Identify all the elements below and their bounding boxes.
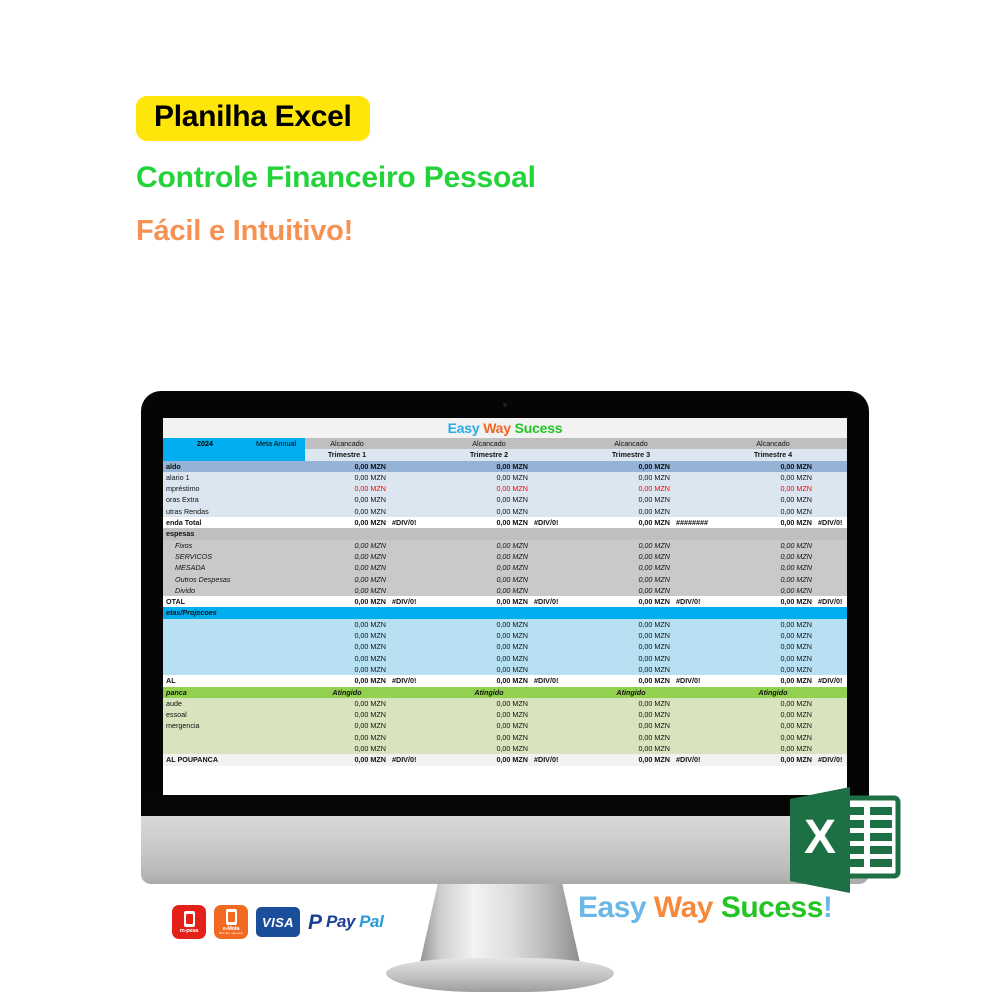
emola-icon: e-Mola Mais fácil, mais perto bbox=[214, 905, 248, 939]
cell-value-q3: 0,00 MZN bbox=[589, 494, 673, 505]
cell-value-q2: 0,00 MZN bbox=[447, 596, 531, 607]
mpesa-icon: m-pesa bbox=[172, 905, 206, 939]
cell-pct-q4 bbox=[815, 506, 847, 517]
cell-pct-q2 bbox=[531, 641, 589, 652]
mpesa-phone-glyph bbox=[184, 911, 195, 927]
sheet-row: aldo0,00 MZN0,00 MZN0,00 MZN0,00 MZN0,00 bbox=[163, 461, 847, 472]
cell-pct-q4: #DIV/0! bbox=[815, 596, 847, 607]
cell-value-q3: Atingido bbox=[589, 687, 673, 698]
cell-pct-q4 bbox=[815, 528, 847, 539]
cell-value-q4: 0,00 MZN bbox=[731, 709, 815, 720]
headline-tagline: Fácil e Intuitivo! bbox=[136, 217, 736, 246]
cell-value-q1: 0,00 MZN bbox=[305, 675, 389, 686]
cell-pct-q3 bbox=[673, 562, 731, 573]
cell-pct-q1 bbox=[389, 641, 447, 652]
row-label: Outros Despesas bbox=[163, 574, 247, 585]
cell-value-q4: 0,00 MZN bbox=[731, 585, 815, 596]
cell-value-q3: 0,00 MZN bbox=[589, 664, 673, 675]
cell-pct-q3 bbox=[673, 483, 731, 494]
row-meta bbox=[247, 653, 305, 664]
excel-spreadsheet: Easy Way Sucess 2024Meta AnnualAlcancado… bbox=[163, 418, 847, 766]
cell-pct-q3 bbox=[673, 585, 731, 596]
row-label: Fixos bbox=[163, 540, 247, 551]
sheet-row: SERVICOS0,00 MZN0,00 MZN0,00 MZN0,00 MZN… bbox=[163, 551, 847, 562]
cell-value-q2: 0,00 MZN bbox=[447, 562, 531, 573]
cell-pct-q4 bbox=[815, 641, 847, 652]
headline-block: Planilha Excel Controle Financeiro Pesso… bbox=[136, 96, 736, 246]
header-achieved-q1: Alcancado bbox=[305, 438, 389, 449]
cell-value-q2: 0,00 MZN bbox=[447, 494, 531, 505]
cell-pct-q4 bbox=[815, 709, 847, 720]
row-label: espesas bbox=[163, 528, 247, 539]
cell-value-q2: 0,00 MZN bbox=[447, 675, 531, 686]
cell-pct-q3 bbox=[673, 698, 731, 709]
header-meta-annual: Meta Annual bbox=[247, 438, 305, 449]
row-meta bbox=[247, 687, 305, 698]
cell-pct-q4 bbox=[815, 574, 847, 585]
excel-logo-icon: X bbox=[784, 785, 902, 895]
row-meta bbox=[247, 517, 305, 528]
cell-pct-q4 bbox=[815, 585, 847, 596]
monitor-screen: Easy Way Sucess 2024Meta AnnualAlcancado… bbox=[163, 418, 847, 795]
row-meta bbox=[247, 472, 305, 483]
headline-subtitle: Controle Financeiro Pessoal bbox=[136, 163, 736, 193]
cell-value-q2: Atingido bbox=[447, 687, 531, 698]
cell-pct-q1 bbox=[389, 630, 447, 641]
cell-value-q4: 0,00 MZN bbox=[731, 483, 815, 494]
cell-pct-q4 bbox=[815, 698, 847, 709]
cell-value-q2: 0,00 MZN bbox=[447, 698, 531, 709]
row-meta bbox=[247, 596, 305, 607]
cell-pct-q2 bbox=[531, 562, 589, 573]
cell-value-q4: 0,00 MZN bbox=[731, 664, 815, 675]
cell-value-q3: 0,00 MZN bbox=[589, 483, 673, 494]
header-quarter-pct-3 bbox=[673, 449, 731, 460]
cell-value-q1: 0,00 MZN bbox=[305, 754, 389, 765]
cell-value-q1: 0,00 MZN bbox=[305, 540, 389, 551]
cell-value-q3: 0,00 MZN bbox=[589, 551, 673, 562]
cell-value-q3: 0,00 MZN bbox=[589, 743, 673, 754]
sheet-row: 0,00 MZN0,00 MZN0,00 MZN0,00 MZN0,00 bbox=[163, 653, 847, 664]
brand-easy: Easy bbox=[578, 891, 646, 924]
cell-pct-q2 bbox=[531, 653, 589, 664]
cell-pct-q4 bbox=[815, 494, 847, 505]
row-label bbox=[163, 641, 247, 652]
row-meta bbox=[247, 585, 305, 596]
cell-pct-q3 bbox=[673, 720, 731, 731]
cell-value-q3 bbox=[589, 607, 673, 618]
brand-way: Way bbox=[654, 891, 713, 924]
sheet-row: AL0,00 MZN#DIV/0!0,00 MZN#DIV/0!0,00 MZN… bbox=[163, 675, 847, 686]
cell-value-q2: 0,00 MZN bbox=[447, 483, 531, 494]
cell-pct-q1 bbox=[389, 732, 447, 743]
cell-value-q1: 0,00 MZN bbox=[305, 574, 389, 585]
row-meta bbox=[247, 483, 305, 494]
paypal-pay: Pay bbox=[326, 912, 355, 932]
row-meta bbox=[247, 619, 305, 630]
row-label: MESADA bbox=[163, 562, 247, 573]
sheet-row: utras Rendas0,00 MZN0,00 MZN0,00 MZN0,00… bbox=[163, 506, 847, 517]
row-label: aude bbox=[163, 698, 247, 709]
cell-pct-q2 bbox=[531, 698, 589, 709]
header-corner bbox=[163, 449, 247, 460]
cell-pct-q4 bbox=[815, 687, 847, 698]
cell-value-q1: 0,00 MZN bbox=[305, 653, 389, 664]
cell-value-q4: 0,00 MZN bbox=[731, 641, 815, 652]
webcam-icon bbox=[503, 403, 507, 407]
cell-pct-q3: #DIV/0! bbox=[673, 675, 731, 686]
cell-pct-q3 bbox=[673, 551, 731, 562]
cell-value-q4: 0,00 MZN bbox=[731, 494, 815, 505]
cell-value-q2: 0,00 MZN bbox=[447, 754, 531, 765]
sheet-row: aude0,00 MZN0,00 MZN0,00 MZN0,00 MZN0,00 bbox=[163, 698, 847, 709]
cell-pct-q4 bbox=[815, 483, 847, 494]
cell-value-q3 bbox=[589, 528, 673, 539]
cell-pct-q2 bbox=[531, 720, 589, 731]
cell-value-q2: 0,00 MZN bbox=[447, 540, 531, 551]
cell-value-q1: 0,00 MZN bbox=[305, 585, 389, 596]
sheet-row: 0,00 MZN0,00 MZN0,00 MZN0,00 MZN0,00 bbox=[163, 664, 847, 675]
cell-value-q3: 0,00 MZN bbox=[589, 630, 673, 641]
cell-value-q1: 0,00 MZN bbox=[305, 517, 389, 528]
sheet-header-quarters: Trimestre 1Trimestre 2Trimestre 3Trimest… bbox=[163, 449, 847, 460]
cell-pct-q2 bbox=[531, 687, 589, 698]
cell-pct-q4: #DIV/0! bbox=[815, 675, 847, 686]
cell-pct-q1: #DIV/0! bbox=[389, 596, 447, 607]
cell-value-q2: 0,00 MZN bbox=[447, 743, 531, 754]
mpesa-label: m-pesa bbox=[180, 928, 198, 934]
cell-pct-q2 bbox=[531, 607, 589, 618]
cell-value-q2: 0,00 MZN bbox=[447, 517, 531, 528]
cell-pct-q4 bbox=[815, 607, 847, 618]
sheet-row: oras Extra0,00 MZN0,00 MZN0,00 MZN0,00 M… bbox=[163, 494, 847, 505]
cell-pct-q3: ######## bbox=[673, 517, 731, 528]
row-meta bbox=[247, 720, 305, 731]
row-label: enda Total bbox=[163, 517, 247, 528]
cell-pct-q2 bbox=[531, 664, 589, 675]
sheet-row: etas/ProjecoesDISPONÍVEL bbox=[163, 607, 847, 618]
cell-pct-q3: #DIV/0! bbox=[673, 596, 731, 607]
cell-value-q2: 0,00 MZN bbox=[447, 709, 531, 720]
cell-pct-q3 bbox=[673, 528, 731, 539]
sheet-row: alario 10,00 MZN0,00 MZN0,00 MZN0,00 MZN… bbox=[163, 472, 847, 483]
cell-value-q4 bbox=[731, 528, 815, 539]
cell-value-q4: 0,00 MZN bbox=[731, 653, 815, 664]
sheet-row: essoal0,00 MZN0,00 MZN0,00 MZN0,00 MZN0,… bbox=[163, 709, 847, 720]
cell-pct-q1 bbox=[389, 483, 447, 494]
cell-value-q4: 0,00 MZN bbox=[731, 506, 815, 517]
cell-pct-q2 bbox=[531, 630, 589, 641]
visa-icon: VISA bbox=[256, 907, 300, 937]
cell-value-q3: 0,00 MZN bbox=[589, 675, 673, 686]
sheet-title: Easy Way Sucess bbox=[163, 418, 847, 438]
cell-value-q3: 0,00 MZN bbox=[589, 596, 673, 607]
cell-pct-q4 bbox=[815, 720, 847, 731]
row-label bbox=[163, 653, 247, 664]
header-quarter-pct-2 bbox=[531, 449, 589, 460]
row-meta bbox=[247, 732, 305, 743]
header-achieved-q3: Alcancado bbox=[589, 438, 673, 449]
cell-pct-q1 bbox=[389, 653, 447, 664]
cell-pct-q4 bbox=[815, 732, 847, 743]
cell-pct-q3 bbox=[673, 687, 731, 698]
cell-value-q1: 0,00 MZN bbox=[305, 494, 389, 505]
cell-pct-q1 bbox=[389, 528, 447, 539]
cell-value-q4 bbox=[731, 607, 815, 618]
cell-value-q3: 0,00 MZN bbox=[589, 472, 673, 483]
cell-pct-q1 bbox=[389, 664, 447, 675]
cell-pct-q2 bbox=[531, 574, 589, 585]
cell-value-q4: 0,00 MZN bbox=[731, 517, 815, 528]
row-meta bbox=[247, 743, 305, 754]
sheet-row: espesas bbox=[163, 528, 847, 539]
row-label: utras Rendas bbox=[163, 506, 247, 517]
row-label: essoal bbox=[163, 709, 247, 720]
cell-value-q2: 0,00 MZN bbox=[447, 472, 531, 483]
header-achieved-q4: Alcancado bbox=[731, 438, 815, 449]
header-pct-q4 bbox=[815, 438, 847, 449]
cell-pct-q4 bbox=[815, 619, 847, 630]
imac-monitor: Easy Way Sucess 2024Meta AnnualAlcancado… bbox=[141, 391, 869, 820]
cell-pct-q1: #DIV/0! bbox=[389, 675, 447, 686]
cell-value-q1: 0,00 MZN bbox=[305, 596, 389, 607]
emola-phone-glyph bbox=[226, 909, 237, 925]
paypal-pal: Pal bbox=[359, 912, 383, 932]
cell-value-q2: 0,00 MZN bbox=[447, 664, 531, 675]
header-achieved-q2: Alcancado bbox=[447, 438, 531, 449]
cell-value-q2: 0,00 MZN bbox=[447, 574, 531, 585]
emola-sublabel: Mais fácil, mais perto bbox=[219, 932, 243, 935]
cell-value-q2: 0,00 MZN bbox=[447, 720, 531, 731]
cell-pct-q2 bbox=[531, 540, 589, 551]
cell-pct-q3 bbox=[673, 653, 731, 664]
cell-value-q3: 0,00 MZN bbox=[589, 754, 673, 765]
cell-pct-q1 bbox=[389, 494, 447, 505]
cell-pct-q2: #DIV/0! bbox=[531, 517, 589, 528]
row-meta bbox=[247, 641, 305, 652]
row-meta bbox=[247, 675, 305, 686]
cell-value-q4: 0,00 MZN bbox=[731, 461, 815, 472]
cell-value-q2: 0,00 MZN bbox=[447, 551, 531, 562]
row-meta bbox=[247, 607, 305, 618]
sheet-row: 0,00 MZN0,00 MZN0,00 MZN0,00 MZN0,00 bbox=[163, 619, 847, 630]
cell-pct-q3 bbox=[673, 540, 731, 551]
cell-pct-q2 bbox=[531, 743, 589, 754]
row-label bbox=[163, 664, 247, 675]
cell-value-q1 bbox=[305, 607, 389, 618]
cell-pct-q1 bbox=[389, 472, 447, 483]
cell-pct-q4 bbox=[815, 461, 847, 472]
sheet-row: AL POUPANCA0,00 MZN#DIV/0!0,00 MZN#DIV/0… bbox=[163, 754, 847, 765]
row-meta bbox=[247, 540, 305, 551]
cell-pct-q2 bbox=[531, 483, 589, 494]
row-label: etas/Projecoes bbox=[163, 607, 247, 618]
cell-value-q3: 0,00 MZN bbox=[589, 585, 673, 596]
row-label: AL bbox=[163, 675, 247, 686]
cell-pct-q2 bbox=[531, 528, 589, 539]
cell-pct-q1 bbox=[389, 461, 447, 472]
row-meta bbox=[247, 664, 305, 675]
cell-value-q3: 0,00 MZN bbox=[589, 732, 673, 743]
sheet-row: 0,00 MZN0,00 MZN0,00 MZN0,00 MZN0,00 bbox=[163, 743, 847, 754]
row-label: mpréstimo bbox=[163, 483, 247, 494]
sheet-row: mpréstimo0,00 MZN0,00 MZN0,00 MZN0,00 MZ… bbox=[163, 483, 847, 494]
sheet-row: pancaAtingidoAtingidoAtingidoAtingidoDis… bbox=[163, 687, 847, 698]
cell-pct-q4: #DIV/0! bbox=[815, 754, 847, 765]
row-meta bbox=[247, 461, 305, 472]
cell-pct-q4 bbox=[815, 653, 847, 664]
cell-pct-q1 bbox=[389, 698, 447, 709]
paypal-icon: P PayPal bbox=[308, 912, 383, 933]
cell-pct-q1: #DIV/0! bbox=[389, 754, 447, 765]
cell-value-q3: 0,00 MZN bbox=[589, 653, 673, 664]
row-meta bbox=[247, 574, 305, 585]
cell-value-q1: Atingido bbox=[305, 687, 389, 698]
brand-sucess: Sucess bbox=[721, 891, 823, 924]
cell-value-q4: 0,00 MZN bbox=[731, 675, 815, 686]
cell-value-q4: 0,00 MZN bbox=[731, 619, 815, 630]
sheet-row: OTAL0,00 MZN#DIV/0!0,00 MZN#DIV/0!0,00 M… bbox=[163, 596, 847, 607]
cell-value-q1: 0,00 MZN bbox=[305, 483, 389, 494]
cell-pct-q1 bbox=[389, 687, 447, 698]
cell-value-q1: 0,00 MZN bbox=[305, 551, 389, 562]
cell-pct-q3 bbox=[673, 574, 731, 585]
row-meta bbox=[247, 698, 305, 709]
sheet-row: Fixos0,00 MZN0,00 MZN0,00 MZN0,00 MZN0,0… bbox=[163, 540, 847, 551]
cell-value-q4: Atingido bbox=[731, 687, 815, 698]
header-quarter-1: Trimestre 1 bbox=[305, 449, 389, 460]
header-corner-meta bbox=[247, 449, 305, 460]
svg-text:X: X bbox=[804, 811, 836, 864]
row-label: OTAL bbox=[163, 596, 247, 607]
cell-pct-q3 bbox=[673, 664, 731, 675]
cell-pct-q3 bbox=[673, 461, 731, 472]
cell-pct-q3 bbox=[673, 619, 731, 630]
cell-value-q1: 0,00 MZN bbox=[305, 472, 389, 483]
cell-value-q2: 0,00 MZN bbox=[447, 641, 531, 652]
cell-pct-q4 bbox=[815, 630, 847, 641]
cell-pct-q2 bbox=[531, 494, 589, 505]
cell-pct-q3 bbox=[673, 630, 731, 641]
cell-value-q1: 0,00 MZN bbox=[305, 720, 389, 731]
cell-pct-q2 bbox=[531, 551, 589, 562]
cell-value-q4: 0,00 MZN bbox=[731, 743, 815, 754]
cell-value-q1: 0,00 MZN bbox=[305, 506, 389, 517]
payment-methods: m-pesa e-Mola Mais fácil, mais perto VIS… bbox=[172, 905, 383, 939]
cell-value-q2: 0,00 MZN bbox=[447, 585, 531, 596]
row-label: alario 1 bbox=[163, 472, 247, 483]
cell-value-q1: 0,00 MZN bbox=[305, 641, 389, 652]
cell-pct-q2: #DIV/0! bbox=[531, 596, 589, 607]
header-quarter-3: Trimestre 3 bbox=[589, 449, 673, 460]
sheet-title-easy: Easy bbox=[448, 420, 480, 436]
row-label: panca bbox=[163, 687, 247, 698]
header-quarter-pct-4 bbox=[815, 449, 847, 460]
cell-pct-q1 bbox=[389, 506, 447, 517]
cell-pct-q4 bbox=[815, 540, 847, 551]
sheet-row: 0,00 MZN0,00 MZN0,00 MZN0,00 MZN0,00 bbox=[163, 732, 847, 743]
sheet-row: Divido0,00 MZN0,00 MZN0,00 MZN0,00 MZN0,… bbox=[163, 585, 847, 596]
header-pct-q3 bbox=[673, 438, 731, 449]
header-pct-q2 bbox=[531, 438, 589, 449]
cell-pct-q4: #DIV/0! bbox=[815, 517, 847, 528]
cell-value-q1: 0,00 MZN bbox=[305, 562, 389, 573]
cell-pct-q2 bbox=[531, 506, 589, 517]
cell-value-q4: 0,00 MZN bbox=[731, 698, 815, 709]
cell-value-q3: 0,00 MZN bbox=[589, 619, 673, 630]
cell-pct-q4 bbox=[815, 472, 847, 483]
sheet-row: 0,00 MZN0,00 MZN0,00 MZN0,00 MZN0,00 bbox=[163, 641, 847, 652]
cell-value-q4: 0,00 MZN bbox=[731, 720, 815, 731]
cell-value-q4: 0,00 MZN bbox=[731, 630, 815, 641]
sheet-row: mergencia0,00 MZN0,00 MZN0,00 MZN0,00 MZ… bbox=[163, 720, 847, 731]
cell-pct-q3 bbox=[673, 743, 731, 754]
row-meta bbox=[247, 528, 305, 539]
badge-planilha-excel: Planilha Excel bbox=[136, 96, 370, 141]
cell-value-q1: 0,00 MZN bbox=[305, 630, 389, 641]
row-label bbox=[163, 732, 247, 743]
cell-value-q3: 0,00 MZN bbox=[589, 709, 673, 720]
cell-pct-q3 bbox=[673, 709, 731, 720]
cell-pct-q3 bbox=[673, 472, 731, 483]
row-meta bbox=[247, 506, 305, 517]
cell-pct-q3 bbox=[673, 494, 731, 505]
cell-pct-q4 bbox=[815, 562, 847, 573]
cell-pct-q2 bbox=[531, 619, 589, 630]
cell-value-q3: 0,00 MZN bbox=[589, 698, 673, 709]
sheet-row: MESADA0,00 MZN0,00 MZN0,00 MZN0,00 MZN0,… bbox=[163, 562, 847, 573]
header-pct-q1 bbox=[389, 438, 447, 449]
paypal-mark: P bbox=[308, 912, 322, 933]
monitor-lower-body bbox=[141, 816, 869, 884]
sheet-header-achieved: 2024Meta AnnualAlcancadoAlcancadoAlcanca… bbox=[163, 438, 847, 449]
cell-pct-q3: #DIV/0! bbox=[673, 754, 731, 765]
cell-value-q2 bbox=[447, 607, 531, 618]
header-quarter-4: Trimestre 4 bbox=[731, 449, 815, 460]
cell-value-q3: 0,00 MZN bbox=[589, 517, 673, 528]
cell-pct-q2: #DIV/0! bbox=[531, 754, 589, 765]
cell-pct-q1 bbox=[389, 720, 447, 731]
cell-value-q4: 0,00 MZN bbox=[731, 562, 815, 573]
cell-value-q4: 0,00 MZN bbox=[731, 472, 815, 483]
cell-pct-q3 bbox=[673, 732, 731, 743]
row-label: oras Extra bbox=[163, 494, 247, 505]
cell-pct-q3 bbox=[673, 506, 731, 517]
cell-value-q2: 0,00 MZN bbox=[447, 506, 531, 517]
cell-pct-q2 bbox=[531, 585, 589, 596]
row-meta bbox=[247, 709, 305, 720]
cell-value-q3: 0,00 MZN bbox=[589, 562, 673, 573]
row-label bbox=[163, 619, 247, 630]
cell-value-q3: 0,00 MZN bbox=[589, 540, 673, 551]
header-year: 2024 bbox=[163, 438, 247, 449]
header-quarter-pct-1 bbox=[389, 449, 447, 460]
cell-value-q2: 0,00 MZN bbox=[447, 653, 531, 664]
row-label: mergencia bbox=[163, 720, 247, 731]
sheet-grid: 2024Meta AnnualAlcancadoAlcancadoAlcanca… bbox=[163, 438, 847, 766]
cell-value-q4: 0,00 MZN bbox=[731, 551, 815, 562]
sheet-row: enda Total0,00 MZN#DIV/0!0,00 MZN#DIV/0!… bbox=[163, 517, 847, 528]
cell-value-q2: 0,00 MZN bbox=[447, 619, 531, 630]
cell-value-q1: 0,00 MZN bbox=[305, 732, 389, 743]
sheet-row: 0,00 MZN0,00 MZN0,00 MZN0,00 MZN0,00 bbox=[163, 630, 847, 641]
cell-pct-q1 bbox=[389, 619, 447, 630]
cell-value-q4: 0,00 MZN bbox=[731, 754, 815, 765]
header-quarter-2: Trimestre 2 bbox=[447, 449, 531, 460]
cell-pct-q1 bbox=[389, 607, 447, 618]
sheet-title-sucess: Sucess bbox=[515, 420, 563, 436]
row-meta bbox=[247, 562, 305, 573]
